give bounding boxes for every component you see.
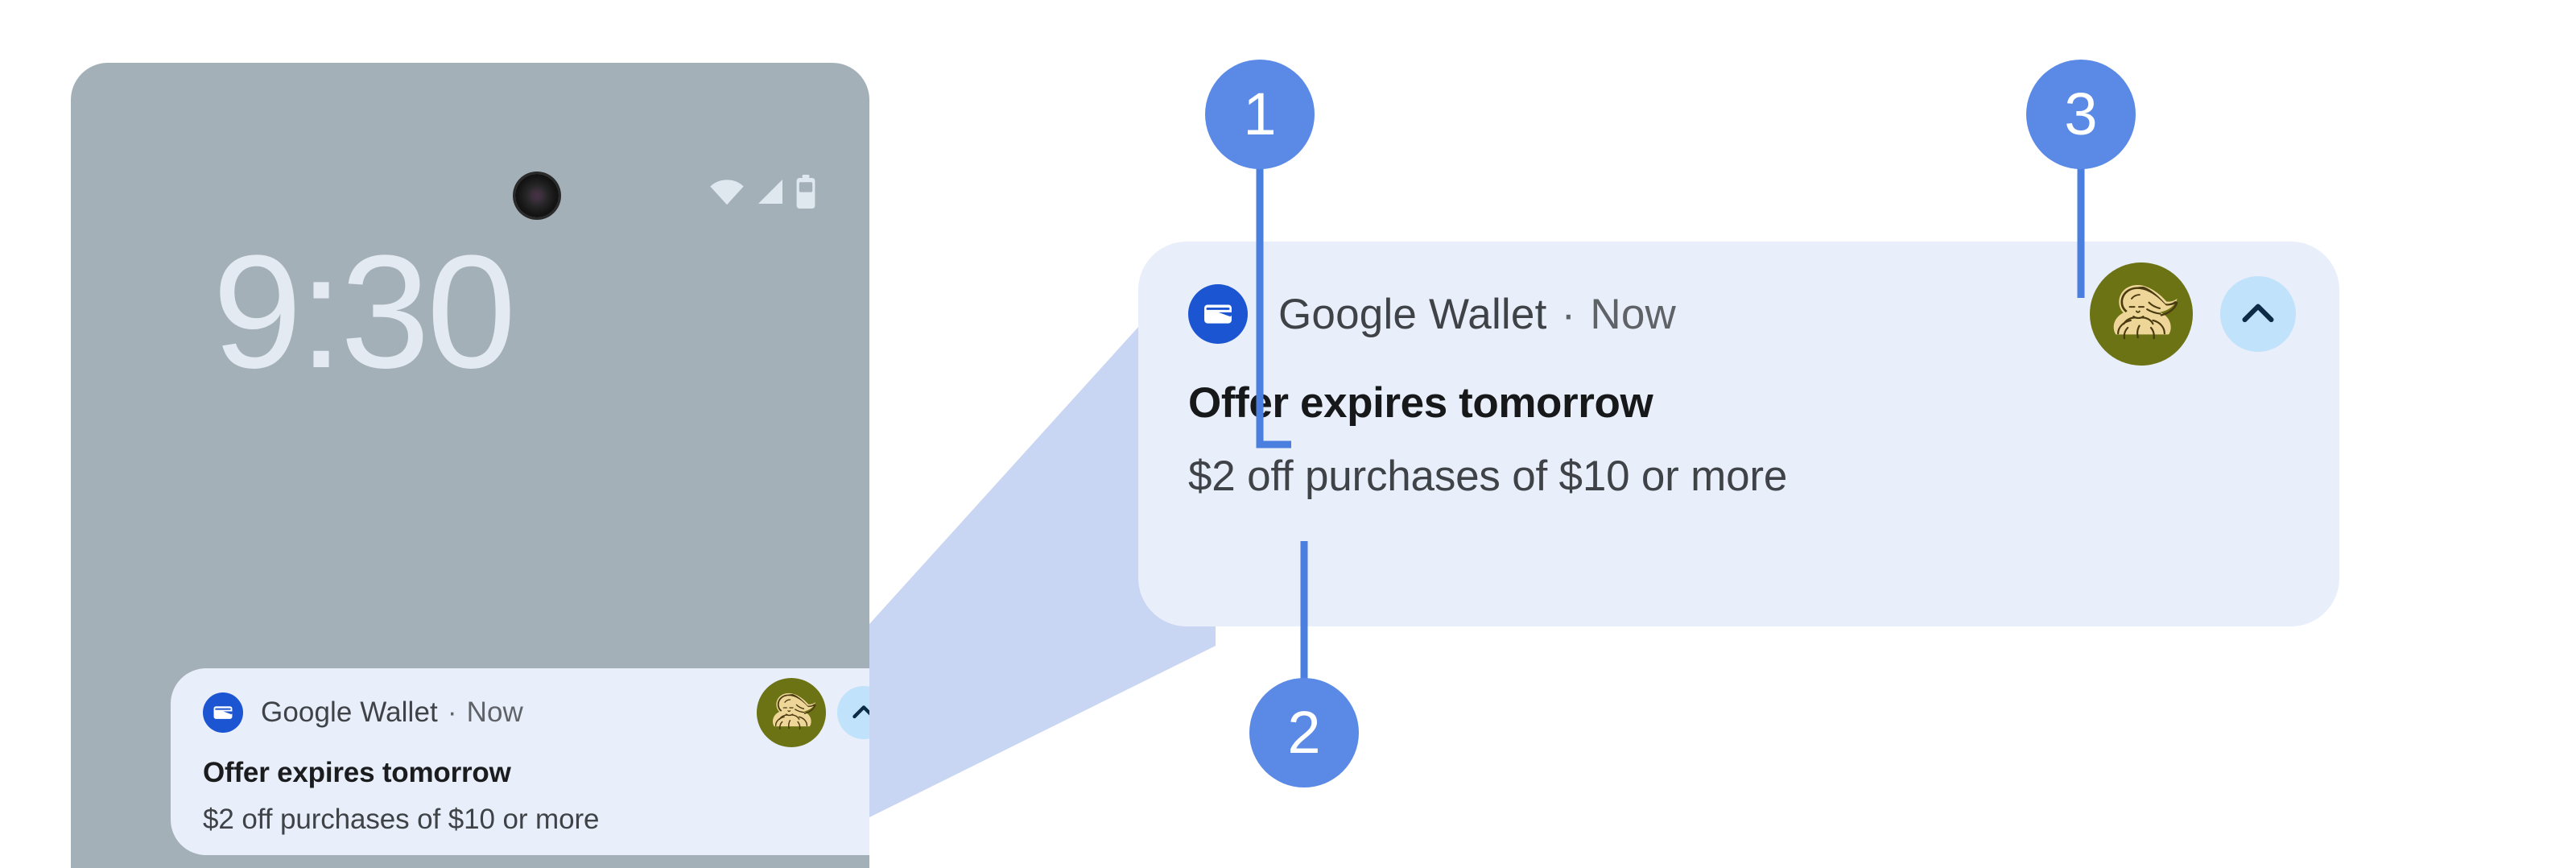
callout-number: 1 [1243, 85, 1276, 144]
lockscreen-clock: 9:30 [213, 232, 513, 393]
front-camera-punch-hole [515, 174, 559, 217]
wifi-icon [708, 176, 745, 208]
expand-notification-button[interactable] [2220, 276, 2296, 352]
notification-body: $2 off purchases of $10 or more [1188, 452, 2296, 501]
notification-separator: · [1547, 291, 1591, 338]
cellular-signal-icon [754, 176, 786, 208]
notification-header-row-enlarged: Google Wallet·Now [1188, 277, 2296, 351]
battery-icon [795, 175, 816, 209]
notification-app-line: Google Wallet·Now [261, 696, 523, 729]
sprouts-merchant-avatar [2090, 262, 2193, 366]
callout-marker-3[interactable]: 3 [2026, 60, 2136, 169]
notification-header-row: Google Wallet·Now [203, 688, 869, 738]
notification-title: Offer expires tomorrow [1188, 378, 2296, 428]
notification-title: Offer expires tomorrow [203, 757, 869, 789]
notification-timestamp: Now [1590, 291, 1676, 338]
callout-number: 3 [2064, 85, 2097, 144]
notification-app-line-enlarged: Google Wallet·Now [1278, 290, 1676, 339]
callout-marker-1[interactable]: 1 [1205, 60, 1315, 169]
notification-card-enlarged[interactable]: Google Wallet·Now [1138, 242, 2339, 626]
notification-body: $2 off purchases of $10 or more [203, 804, 869, 836]
phone-mockup: 9:30 Google Wallet·Now [71, 63, 869, 868]
google-wallet-icon [203, 692, 243, 733]
google-wallet-icon [1188, 284, 1248, 344]
illustration-canvas: 9:30 Google Wallet·Now [0, 0, 2576, 863]
phone-status-bar [708, 172, 816, 211]
notification-app-name: Google Wallet [261, 696, 438, 728]
notification-app-name: Google Wallet [1278, 291, 1547, 338]
callout-marker-2[interactable]: 2 [1249, 678, 1359, 787]
expand-notification-button[interactable] [837, 686, 869, 739]
callout-number: 2 [1287, 703, 1320, 763]
notification-timestamp: Now [467, 696, 523, 728]
sprouts-merchant-avatar [757, 678, 826, 747]
notification-card-small[interactable]: Google Wallet·Now [171, 668, 869, 855]
notification-separator: · [438, 696, 467, 728]
